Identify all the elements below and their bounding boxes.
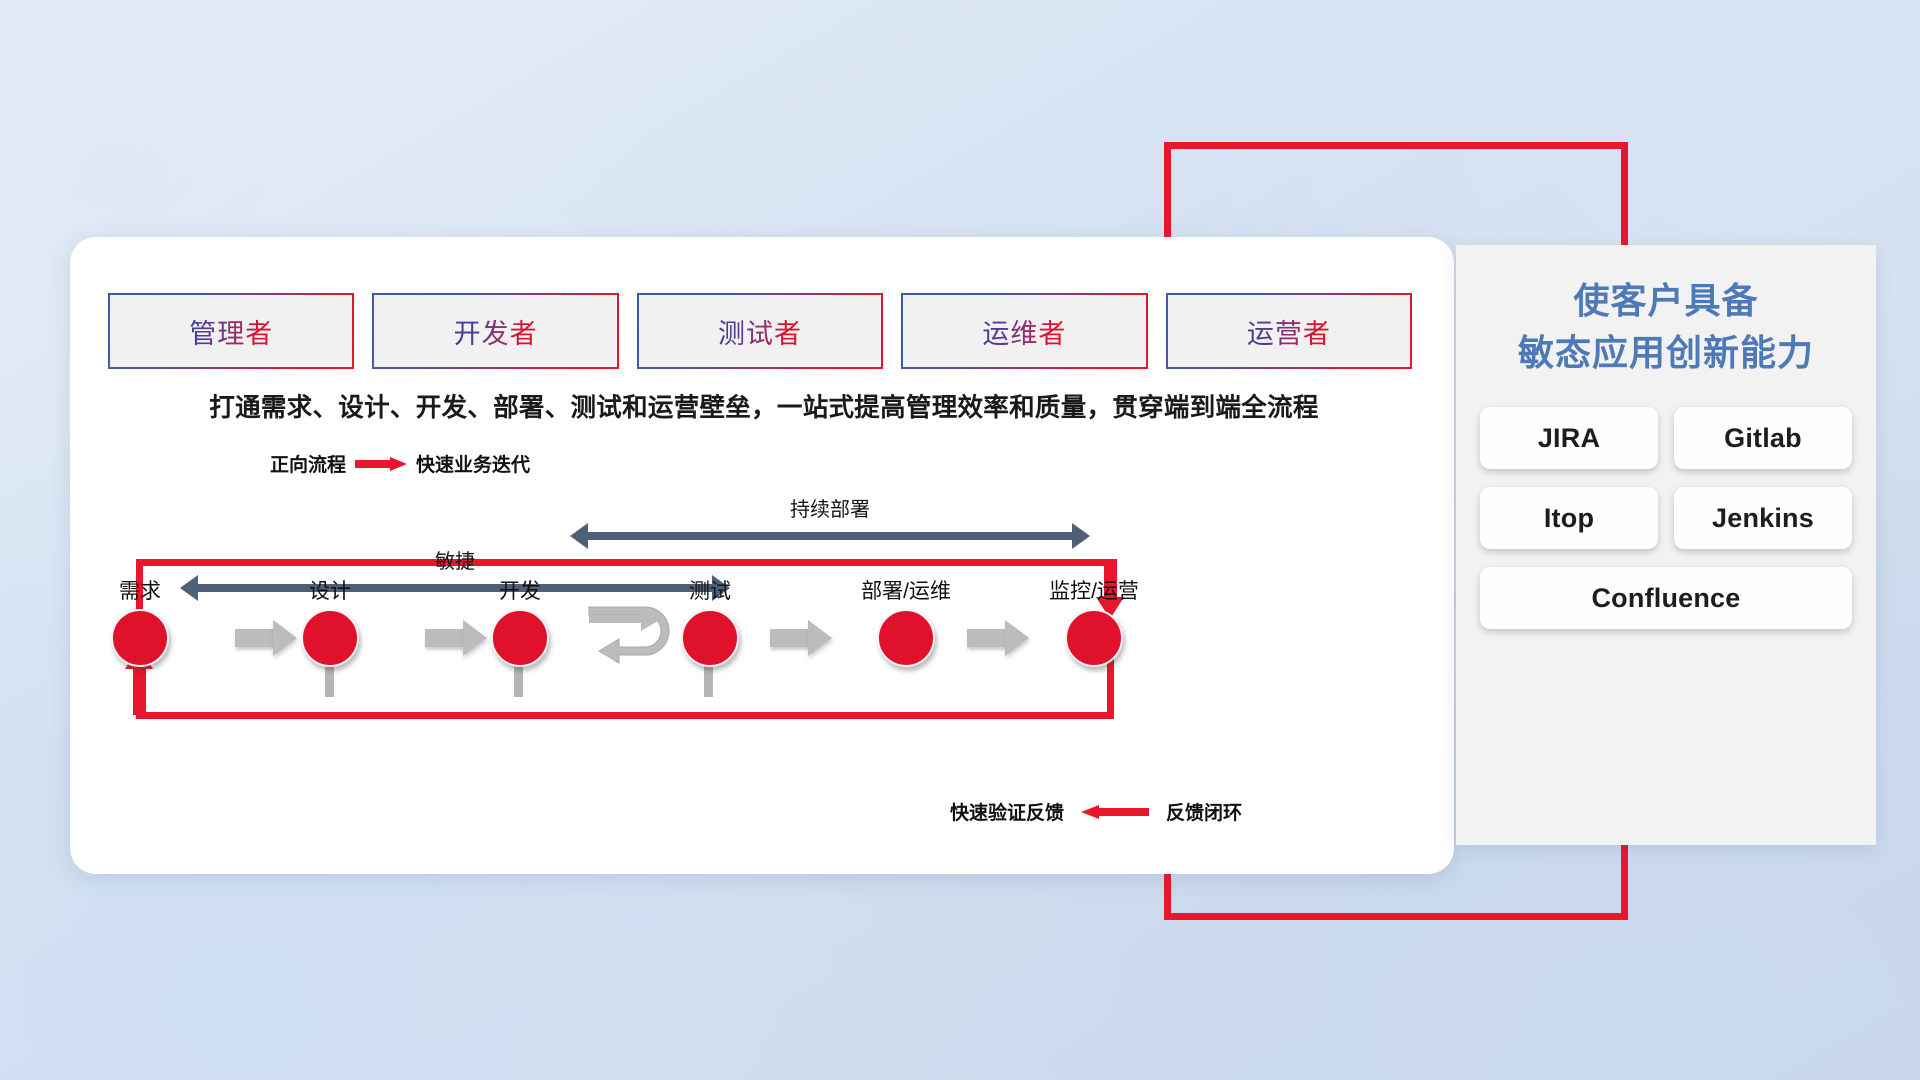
red-arrow-left-icon — [1081, 805, 1149, 818]
panel-title-line2: 敏态应用创新能力 — [1480, 327, 1852, 379]
node-label: 设计 — [230, 575, 430, 605]
node-circle — [877, 609, 935, 667]
gray-arrow-right-icon — [967, 620, 1029, 656]
arrow-shaft — [235, 629, 275, 647]
arrow-shaft — [770, 629, 810, 647]
node-circle — [111, 609, 169, 667]
cycle-loop-svg — [585, 601, 681, 673]
arrow-shaft — [425, 629, 465, 647]
tool-chip-itop[interactable]: Itop — [1480, 487, 1658, 549]
node-circle — [681, 609, 739, 667]
panel-title-line1: 使客户具备 — [1480, 275, 1852, 327]
node-circle — [1065, 609, 1123, 667]
red-frame-bottom — [1164, 913, 1628, 920]
arrow-head — [808, 620, 832, 656]
arrow-head — [1005, 620, 1029, 656]
cycle-loop-icon — [585, 601, 681, 673]
tools-grid: JIRA Gitlab Itop Jenkins Confluence — [1480, 407, 1852, 629]
tool-chip-jira[interactable]: JIRA — [1480, 407, 1658, 469]
arrow-head — [273, 620, 297, 656]
tool-chip-confluence[interactable]: Confluence — [1480, 567, 1852, 629]
red-frame-left-top — [1164, 142, 1171, 252]
tools-panel: 使客户具备 敏态应用创新能力 JIRA Gitlab Itop Jenkins … — [1456, 245, 1876, 845]
tool-chip-jenkins[interactable]: Jenkins — [1674, 487, 1852, 549]
arrow-shaft — [967, 629, 1007, 647]
devops-pipeline: 需求 设计 开发 — [70, 237, 1454, 874]
gray-arrow-right-icon — [425, 620, 487, 656]
slide-canvas: 管理者 开发者 测试者 运维者 运营者 打通需求、设计、开发、部署、测试和运营壁… — [0, 0, 1920, 1080]
red-frame-top — [1164, 142, 1628, 149]
gray-arrow-right-icon — [235, 620, 297, 656]
tool-chip-gitlab[interactable]: Gitlab — [1674, 407, 1852, 469]
node-label: 监控/运营 — [994, 575, 1194, 605]
legend-feedback-right-label: 反馈闭环 — [1166, 798, 1242, 825]
arrow-head — [463, 620, 487, 656]
node-circle — [491, 609, 549, 667]
node-label: 测试 — [610, 575, 810, 605]
node-label: 部署/运维 — [806, 575, 1006, 605]
main-content-card: 管理者 开发者 测试者 运维者 运营者 打通需求、设计、开发、部署、测试和运营壁… — [70, 237, 1454, 874]
legend-feedback-loop: 快速验证反馈 反馈闭环 — [950, 798, 1242, 825]
legend-feedback-left-label: 快速验证反馈 — [950, 798, 1064, 825]
node-circle — [301, 609, 359, 667]
node-label: 需求 — [40, 575, 240, 605]
gray-arrow-right-icon — [770, 620, 832, 656]
